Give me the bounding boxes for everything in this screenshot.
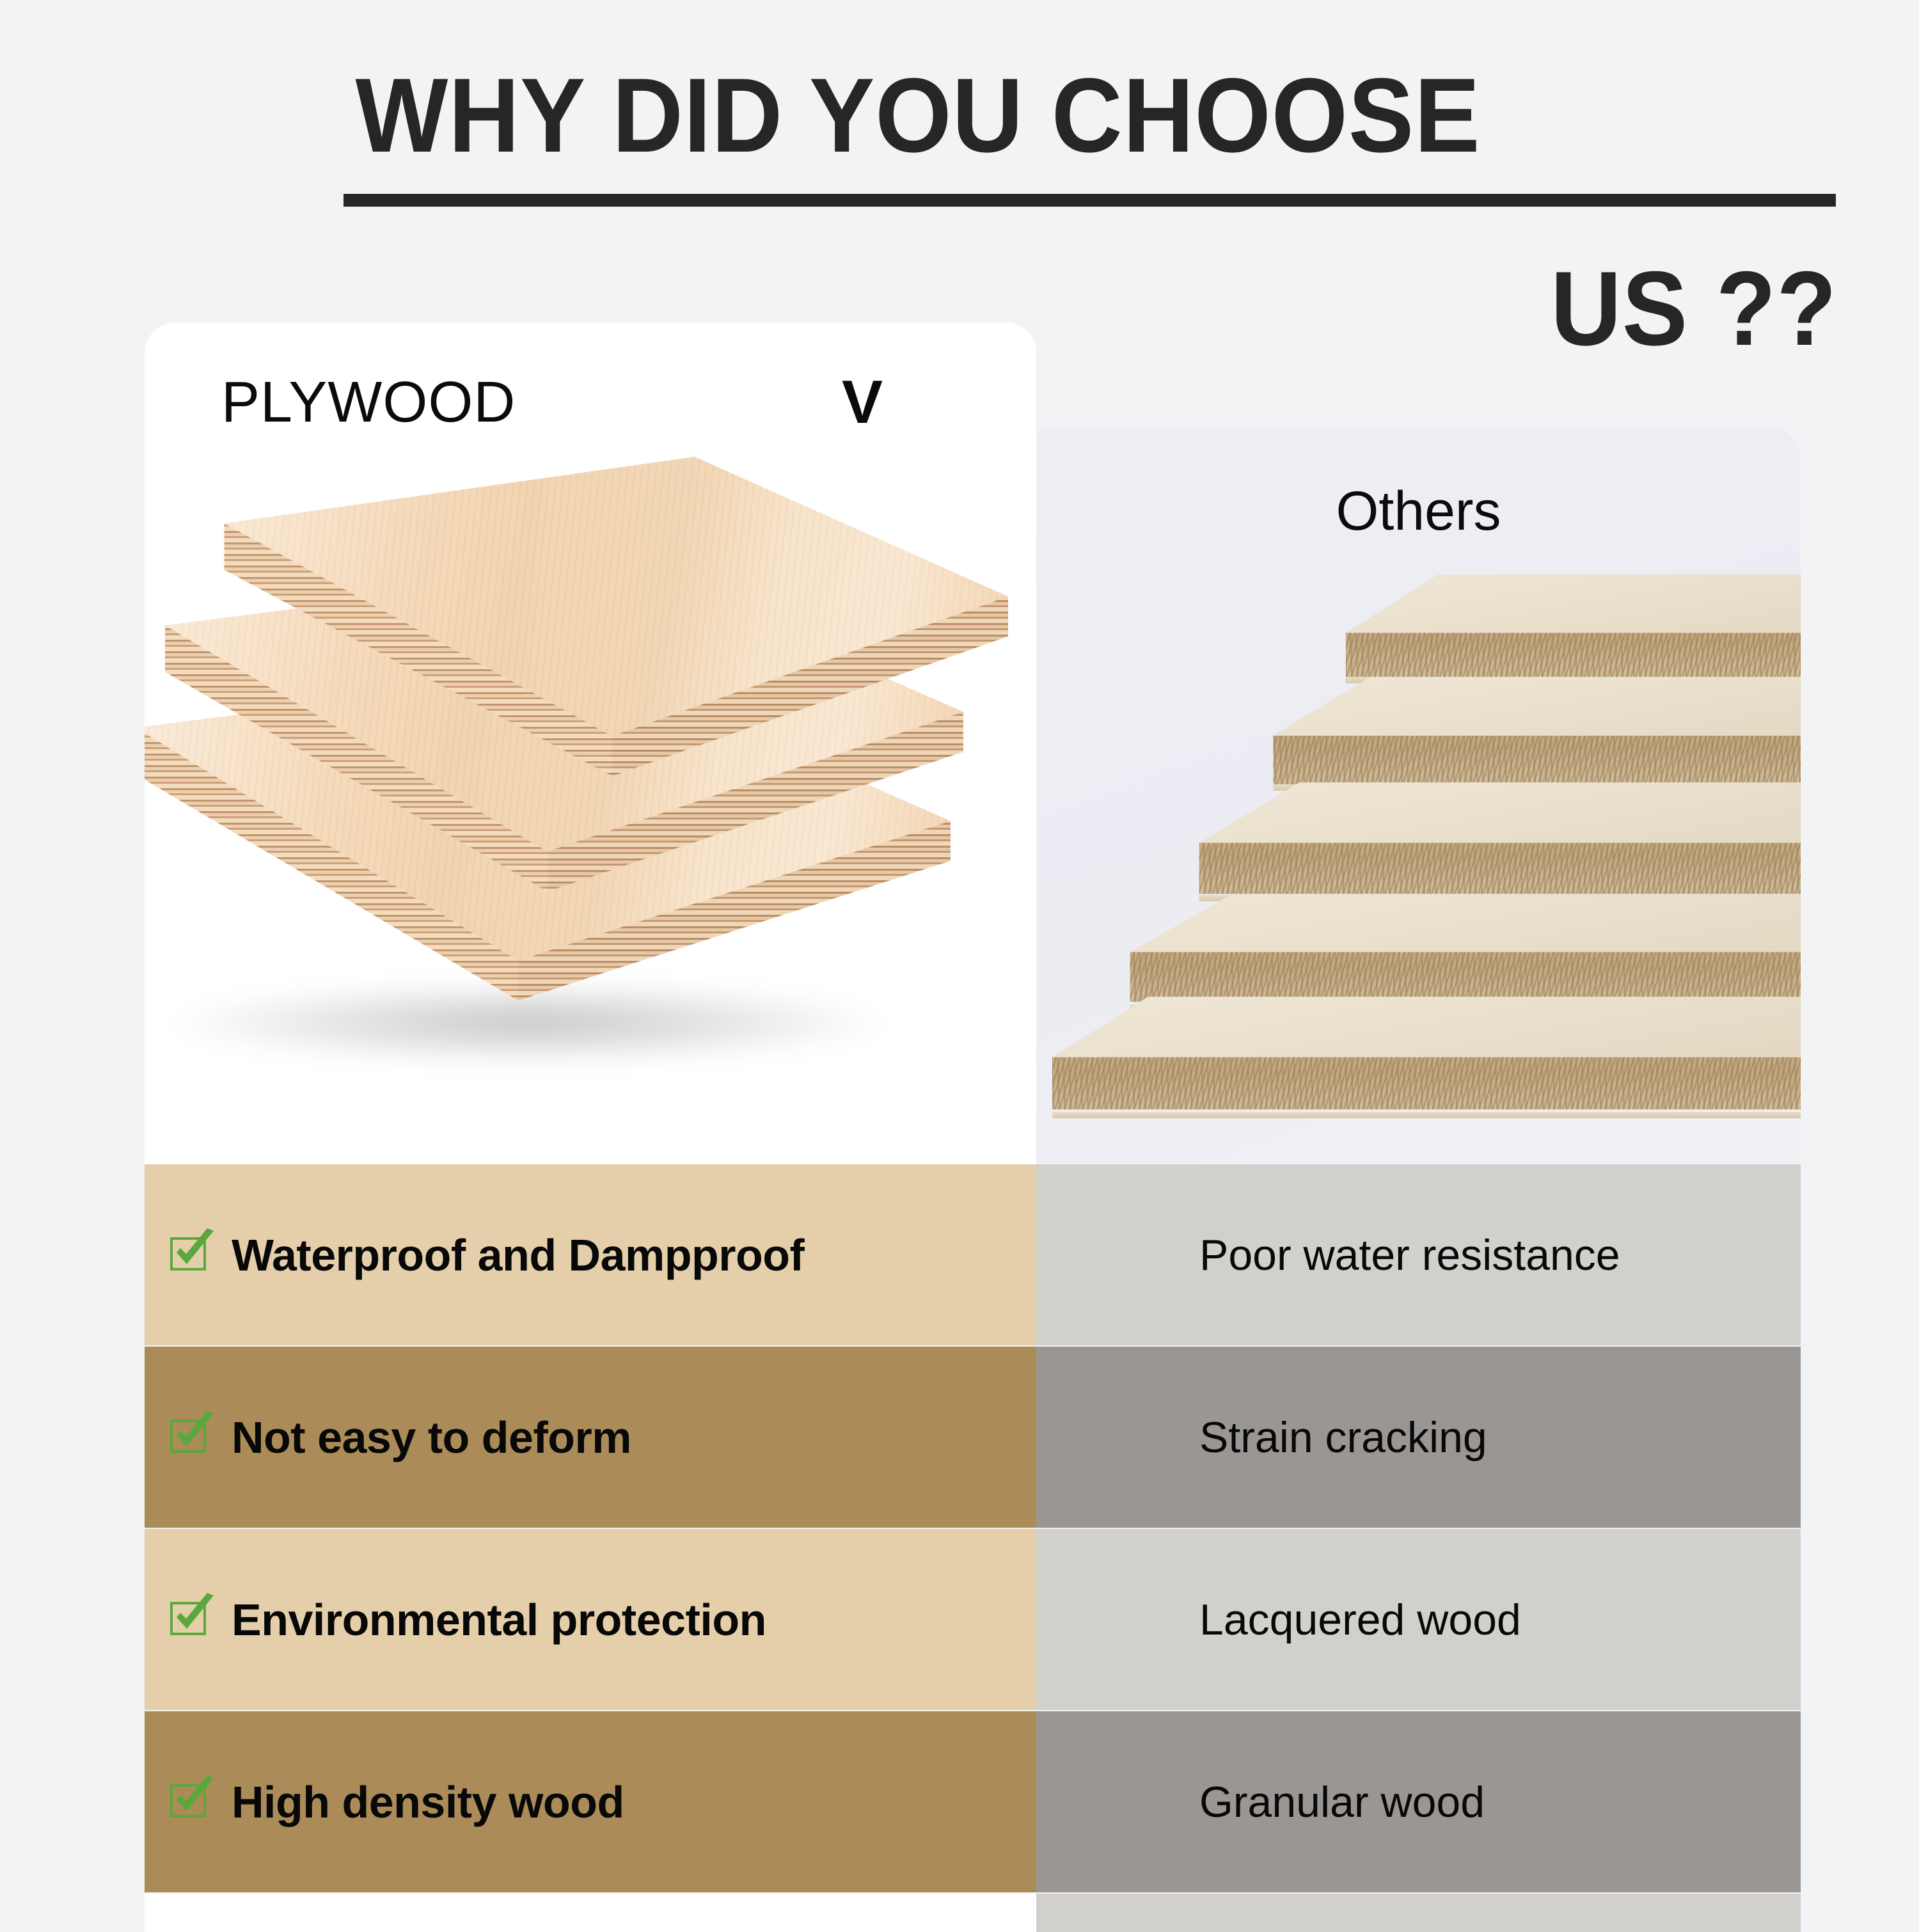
comparison-cell-others: Strain cracking [1036, 1347, 1801, 1528]
green-checkbox-icon [170, 1416, 210, 1455]
comparison-right-label: Poor water resistance [1199, 1230, 1620, 1280]
table-row: Not easy to deform Strain cracking [0, 1347, 1919, 1528]
comparison-table: Waterproof and Dampproof Poor water resi… [0, 1164, 1919, 1919]
comparison-right-label: Strain cracking [1199, 1413, 1487, 1462]
comparison-cell-plywood: Environmental protection [145, 1529, 1036, 1710]
board-bottom-lip [1036, 1112, 1801, 1118]
comparison-cell-others: Lacquered wood [1036, 1529, 1801, 1710]
particleboard-product-image [1036, 555, 1801, 1164]
table-row-partial [0, 1894, 1919, 1932]
page-title-line-1: WHY DID YOU CHOOSE [64, 63, 1771, 168]
comparison-left-label: Waterproof and Dampproof [232, 1230, 804, 1281]
comparison-cell-others: Granular wood [1036, 1711, 1801, 1892]
green-checkbox-icon [170, 1598, 210, 1638]
plywood-product-image [145, 418, 1036, 1164]
comparison-left-label: Not easy to deform [232, 1412, 631, 1463]
table-row: Environmental protection Lacquered wood [0, 1529, 1919, 1710]
title-underline-rule [344, 194, 1836, 207]
others-label: Others [1036, 480, 1801, 543]
comparison-cell-plywood: High density wood [145, 1711, 1036, 1892]
particleboard-board-5 [1036, 997, 1801, 1134]
comparison-right-label: Lacquered wood [1199, 1595, 1521, 1645]
green-checkbox-icon [170, 1233, 210, 1273]
comparison-cell-plywood: Waterproof and Dampproof [145, 1164, 1036, 1345]
table-row: High density wood Granular wood [0, 1711, 1919, 1892]
plywood-card: PLYWOOD V [145, 322, 1036, 1164]
comparison-left-label: High density wood [232, 1777, 624, 1828]
comparison-right-label: Granular wood [1199, 1777, 1485, 1827]
comparison-cell-plywood: Not easy to deform [145, 1347, 1036, 1528]
comparison-cell-others-partial [1036, 1894, 1801, 1932]
others-panel: Others [1036, 427, 1801, 1164]
comparison-left-label: Environmental protection [232, 1594, 766, 1645]
green-checkbox-icon [170, 1780, 210, 1820]
comparison-cell-plywood-partial [145, 1894, 1036, 1932]
table-row: Waterproof and Dampproof Poor water resi… [0, 1164, 1919, 1345]
plywood-sheet-top [183, 457, 1008, 789]
comparison-cell-others: Poor water resistance [1036, 1164, 1801, 1345]
